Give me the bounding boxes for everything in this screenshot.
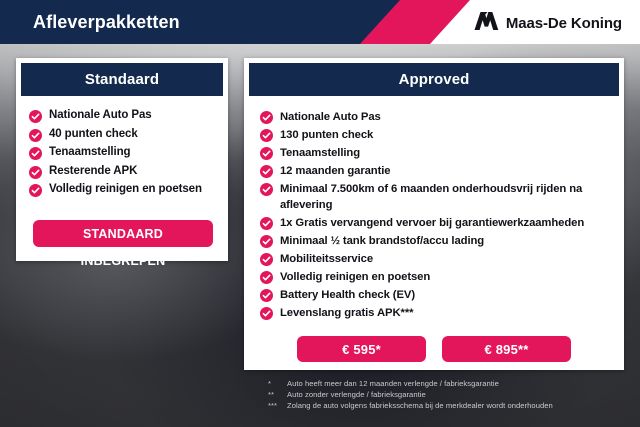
list-item: Minimaal ½ tank brandstof/accu lading	[260, 233, 624, 249]
maas-de-koning-m-logo-icon	[473, 11, 499, 36]
price-button-row: € 595* € 895**	[244, 336, 624, 362]
list-item: Nationale Auto Pas	[260, 109, 624, 125]
footnote-row: ** Auto zonder verlengde / fabrieksgaran…	[268, 389, 628, 400]
feature-label: Nationale Auto Pas	[280, 109, 381, 125]
check-circle-icon	[260, 217, 273, 230]
list-item: Tenaamstelling	[29, 145, 228, 161]
footnote-marker: ***	[268, 400, 287, 411]
feature-label: Battery Health check (EV)	[280, 287, 415, 303]
footnotes-block: * Auto heeft meer dan 12 maanden verleng…	[268, 378, 628, 411]
list-item: 130 punten check	[260, 127, 624, 143]
feature-label: Minimaal 7.500km of 6 maanden onderhouds…	[280, 181, 610, 213]
list-item: Resterende APK	[29, 164, 228, 180]
approved-card-heading: Approved	[249, 63, 619, 96]
list-item: Mobiliteitsservice	[260, 251, 624, 267]
list-item: Nationale Auto Pas	[29, 108, 228, 124]
page-root: Afleverpakketten Maas-De Koning Standaar…	[0, 0, 640, 427]
list-item: Tenaamstelling	[260, 145, 624, 161]
feature-label: 130 punten check	[280, 127, 373, 143]
check-circle-icon	[29, 166, 42, 179]
footnote-text: Zolang de auto volgens fabrieksschema bi…	[287, 400, 628, 411]
footnote-text: Auto heeft meer dan 12 maanden verlengde…	[287, 378, 628, 389]
feature-label: 1x Gratis vervangend vervoer bij garanti…	[280, 215, 584, 231]
feature-label: Nationale Auto Pas	[49, 108, 152, 124]
list-item: Volledig reinigen en poetsen	[260, 269, 624, 285]
footnote-text: Auto zonder verlengde / fabrieksgarantie	[287, 389, 628, 400]
approved-card: Approved Nationale Auto Pas 130 punten c…	[244, 58, 624, 370]
check-circle-icon	[260, 183, 273, 196]
check-circle-icon	[29, 184, 42, 197]
brand-lockup: Maas-De Koning	[473, 11, 622, 36]
page-title: Afleverpakketten	[33, 10, 180, 34]
check-circle-icon	[260, 289, 273, 302]
standaard-inbegrepen-button[interactable]: STANDAARD INBEGREPEN	[33, 220, 213, 247]
list-item: Levenslang gratis APK***	[260, 305, 624, 321]
feature-label: Volledig reinigen en poetsen	[280, 269, 430, 285]
feature-label: Volledig reinigen en poetsen	[49, 182, 202, 198]
price-button-595[interactable]: € 595*	[297, 336, 426, 362]
price-button-895[interactable]: € 895**	[442, 336, 571, 362]
feature-label: Tenaamstelling	[280, 145, 360, 161]
list-item: 1x Gratis vervangend vervoer bij garanti…	[260, 215, 624, 231]
check-circle-icon	[260, 253, 273, 266]
feature-label: Mobiliteitsservice	[280, 251, 373, 267]
check-circle-icon	[29, 147, 42, 160]
approved-feature-list: Nationale Auto Pas 130 punten check Tena…	[244, 96, 624, 321]
check-circle-icon	[260, 129, 273, 142]
check-circle-icon	[260, 307, 273, 320]
list-item: Battery Health check (EV)	[260, 287, 624, 303]
standaard-card-heading: Standaard	[21, 63, 223, 96]
check-circle-icon	[29, 110, 42, 123]
feature-label: Minimaal ½ tank brandstof/accu lading	[280, 233, 484, 249]
feature-label: Levenslang gratis APK***	[280, 305, 413, 321]
list-item: 40 punten check	[29, 127, 228, 143]
list-item: Volledig reinigen en poetsen	[29, 182, 228, 198]
standaard-feature-list: Nationale Auto Pas 40 punten check Tenaa…	[16, 96, 228, 198]
feature-label: Tenaamstelling	[49, 145, 130, 161]
check-circle-icon	[260, 271, 273, 284]
standaard-card: Standaard Nationale Auto Pas 40 punten c…	[16, 58, 228, 261]
page-header: Afleverpakketten Maas-De Koning	[0, 0, 640, 44]
check-circle-icon	[260, 165, 273, 178]
check-circle-icon	[260, 147, 273, 160]
check-circle-icon	[260, 111, 273, 124]
footnote-marker: **	[268, 389, 287, 400]
list-item: Minimaal 7.500km of 6 maanden onderhouds…	[260, 181, 624, 213]
list-item: 12 maanden garantie	[260, 163, 624, 179]
footnote-row: * Auto heeft meer dan 12 maanden verleng…	[268, 378, 628, 389]
feature-label: Resterende APK	[49, 164, 137, 180]
check-circle-icon	[260, 235, 273, 248]
footnote-marker: *	[268, 378, 287, 389]
check-circle-icon	[29, 129, 42, 142]
feature-label: 12 maanden garantie	[280, 163, 390, 179]
brand-name: Maas-De Koning	[506, 15, 622, 32]
feature-label: 40 punten check	[49, 127, 138, 143]
footnote-row: *** Zolang de auto volgens fabrieksschem…	[268, 400, 628, 411]
